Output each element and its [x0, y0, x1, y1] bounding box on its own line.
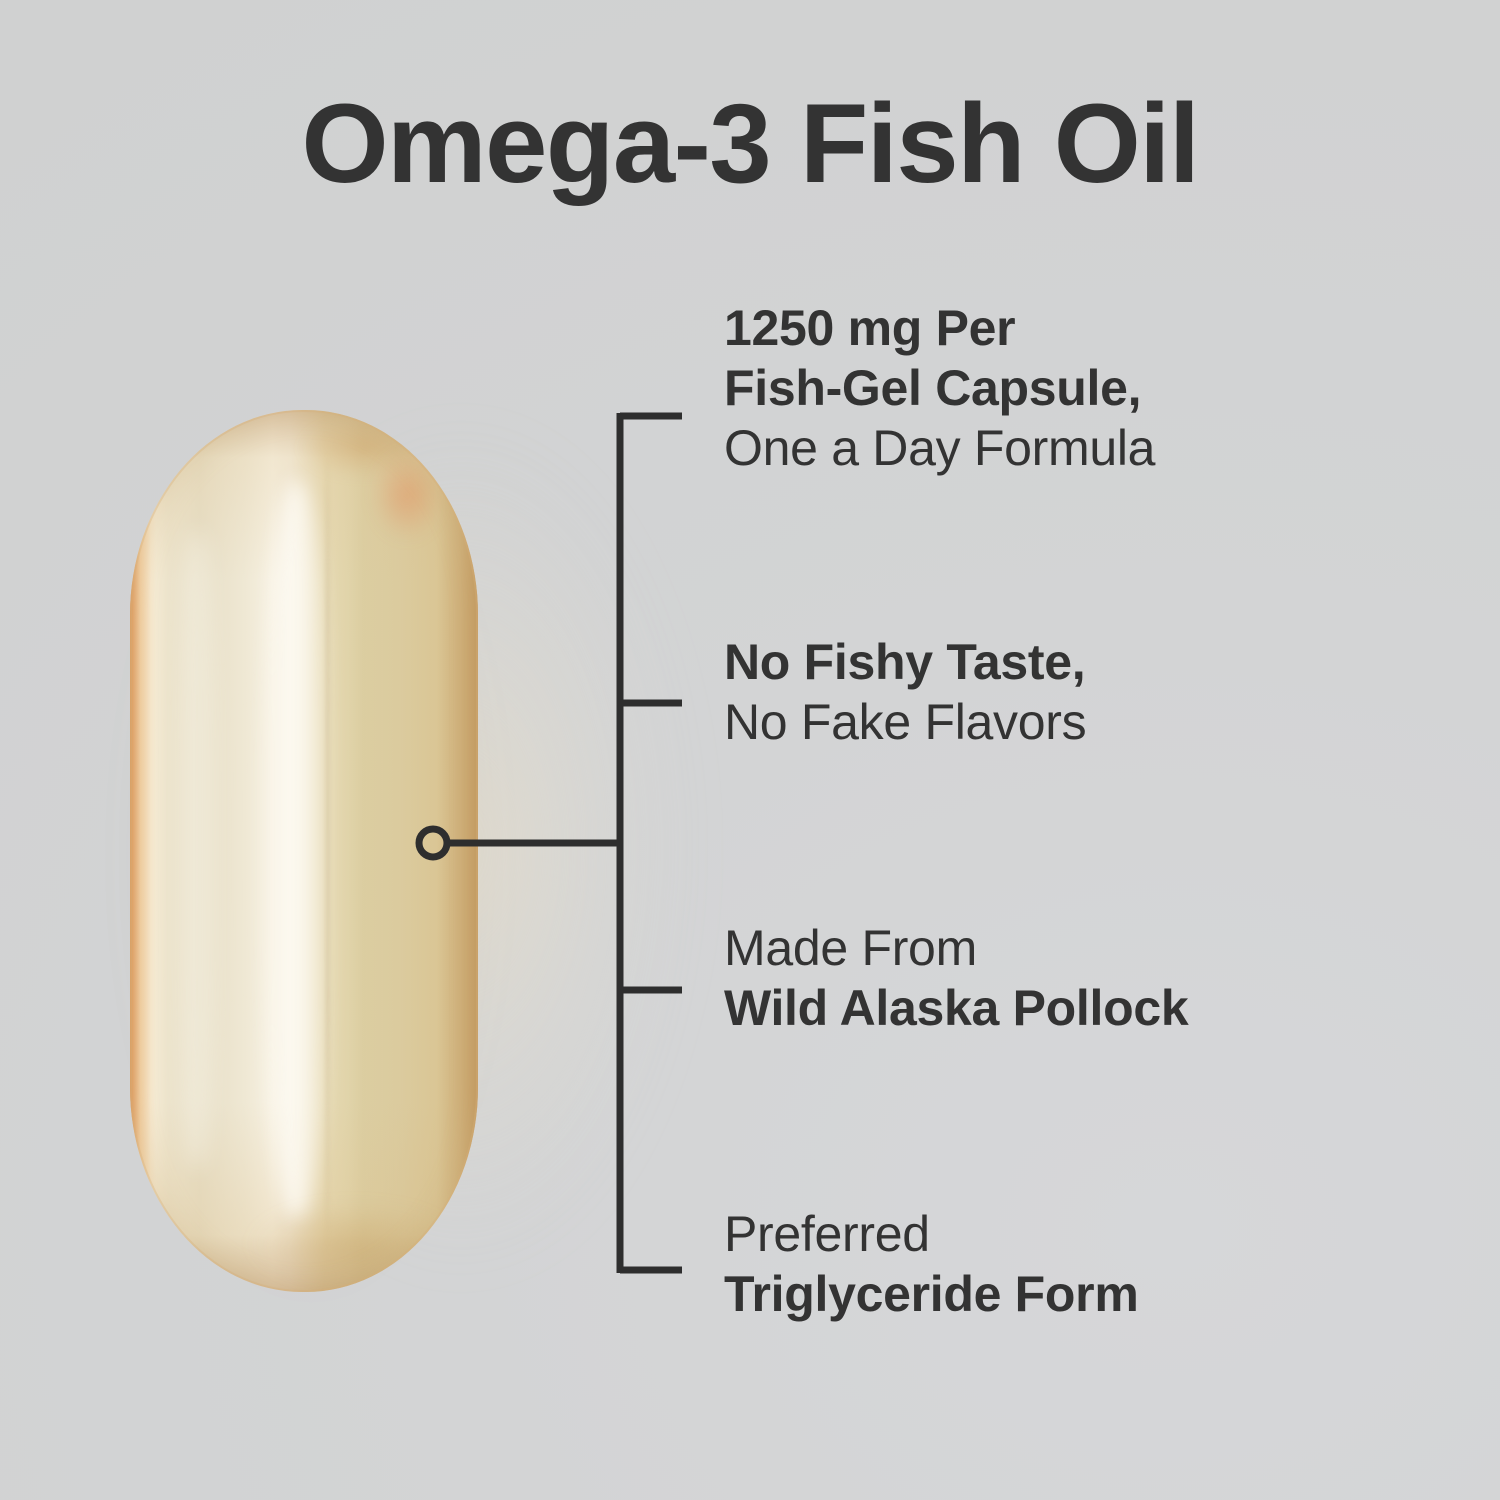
capsule-pointer-marker	[419, 829, 447, 857]
callout-taste-line1: No Fishy Taste,	[724, 632, 1086, 692]
page-title: Omega-3 Fish Oil	[0, 88, 1500, 200]
callout-form: Preferred Triglyceride Form	[724, 1204, 1138, 1324]
callout-dosage-line3: One a Day Formula	[724, 418, 1155, 478]
callout-taste: No Fishy Taste, No Fake Flavors	[724, 632, 1086, 752]
callout-source-line2: Wild Alaska Pollock	[724, 978, 1188, 1038]
callout-form-line1: Preferred	[724, 1204, 1138, 1264]
callout-source: Made From Wild Alaska Pollock	[724, 918, 1188, 1038]
callout-dosage-line2: Fish-Gel Capsule,	[724, 358, 1155, 418]
callout-source-line1: Made From	[724, 918, 1188, 978]
callout-dosage-line1: 1250 mg Per	[724, 298, 1155, 358]
product-infographic: Omega-3 Fish Oil 1	[0, 0, 1500, 1500]
callout-form-line2: Triglyceride Form	[724, 1264, 1138, 1324]
callout-dosage: 1250 mg Per Fish-Gel Capsule, One a Day …	[724, 298, 1155, 478]
callout-connector-lines	[410, 400, 710, 1300]
callout-taste-line2: No Fake Flavors	[724, 692, 1086, 752]
